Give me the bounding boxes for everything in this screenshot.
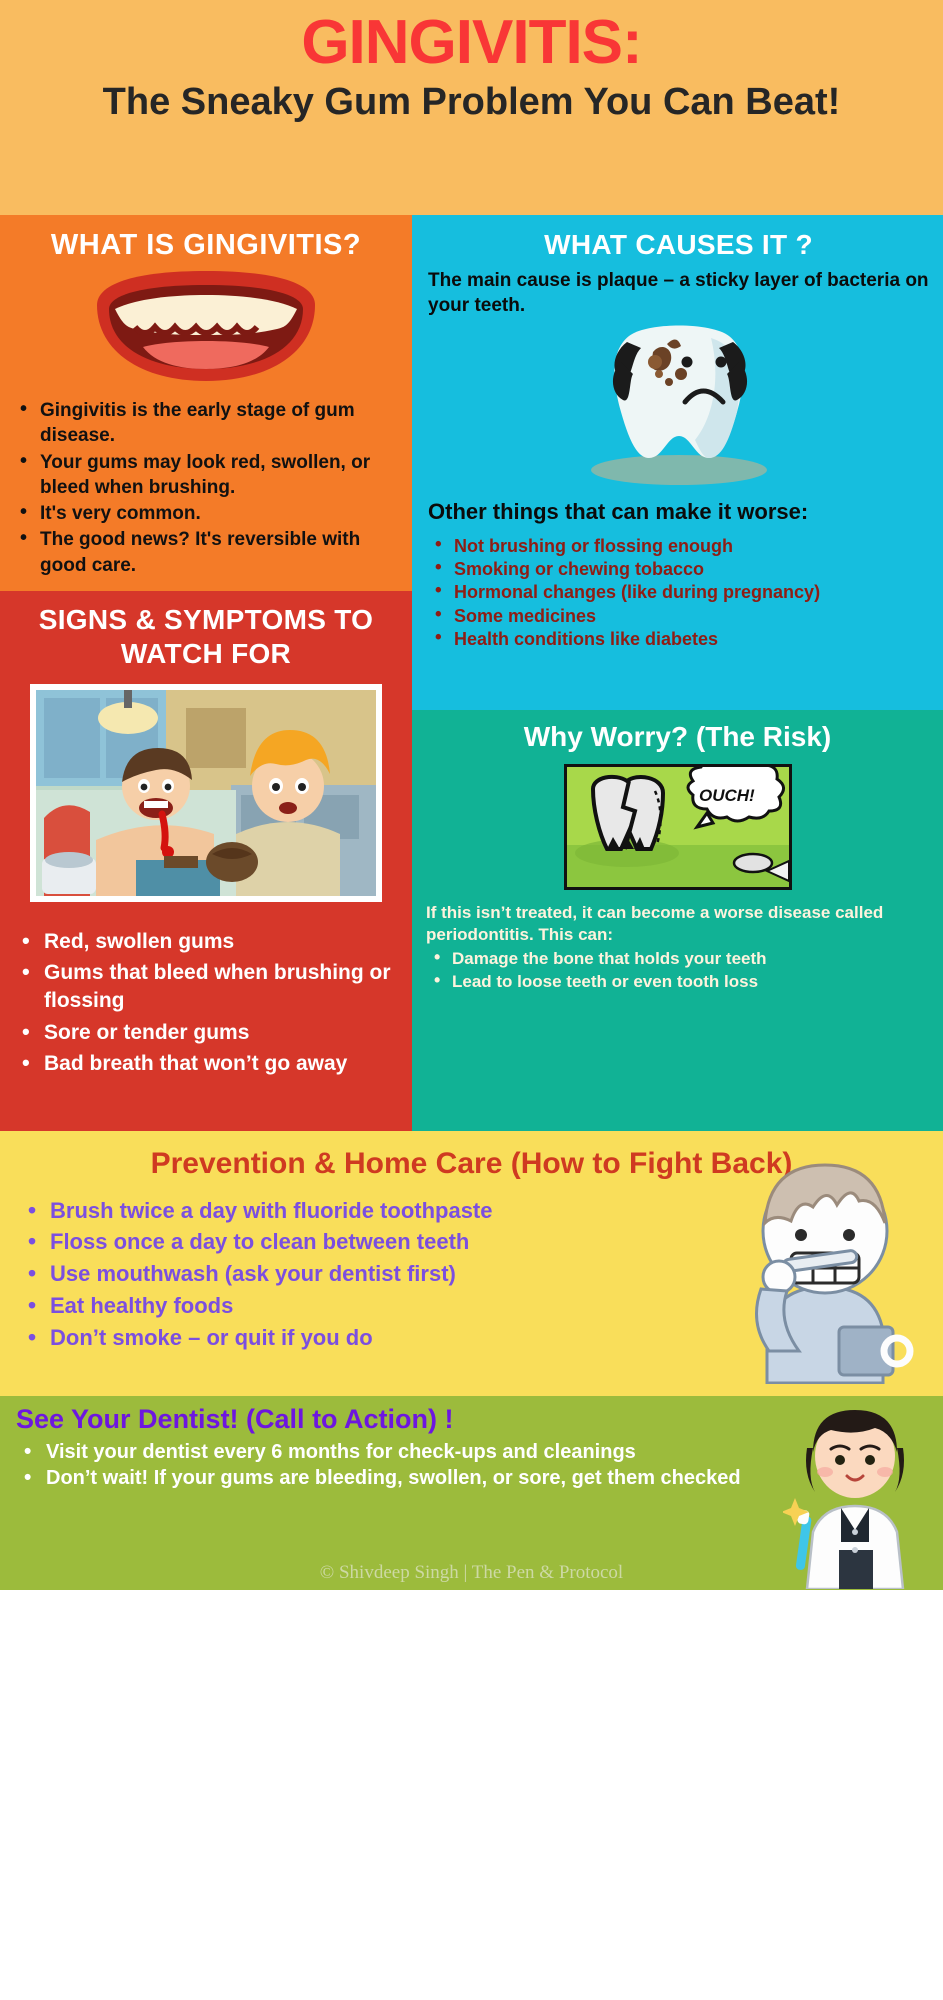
header-banner: GINGIVITIS: The Sneaky Gum Problem You C… bbox=[0, 0, 943, 215]
list-item: Red, swollen gums bbox=[14, 928, 398, 956]
why-worry-body-text: If this isn’t treated, it can become a w… bbox=[426, 903, 883, 944]
what-is-gingivitis-panel: WHAT IS GINGIVITIS? Gingivitis is the ea… bbox=[0, 215, 412, 591]
why-worry-body-text-2: This can: bbox=[538, 925, 613, 944]
list-item: Floss once a day to clean between teeth bbox=[18, 1226, 708, 1258]
page-title: GINGIVITIS: bbox=[301, 8, 641, 77]
what-is-gingivitis-list: Gingivitis is the early stage of gum dis… bbox=[14, 398, 398, 578]
list-item: Health conditions like diabetes bbox=[428, 628, 929, 651]
page-subtitle: The Sneaky Gum Problem You Can Beat! bbox=[103, 79, 841, 125]
list-item: Brush twice a day with fluoride toothpas… bbox=[18, 1195, 708, 1227]
list-item: Gums that bleed when brushing or flossin… bbox=[14, 959, 398, 1015]
list-item: It's very common. bbox=[14, 501, 398, 526]
list-item: Lead to loose teeth or even tooth loss bbox=[426, 971, 929, 993]
right-column: WHAT CAUSES IT ? The main cause is plaqu… bbox=[412, 215, 943, 1131]
child-brushing-teeth-illustration bbox=[731, 1149, 921, 1384]
left-column: WHAT IS GINGIVITIS? Gingivitis is the ea… bbox=[0, 215, 412, 1131]
list-item: Use mouthwash (ask your dentist first) bbox=[18, 1258, 708, 1290]
dental-clinic-cartoon-photo bbox=[30, 684, 382, 902]
list-item: Visit your dentist every 6 months for ch… bbox=[16, 1439, 871, 1465]
list-item: Some medicines bbox=[428, 605, 929, 628]
call-to-action-list: Visit your dentist every 6 months for ch… bbox=[16, 1439, 871, 1492]
list-item: Don’t wait! If your gums are bleeding, s… bbox=[16, 1465, 871, 1491]
list-item: Your gums may look red, swollen, or blee… bbox=[14, 450, 398, 501]
other-causes-subheading: Other things that can make it worse: bbox=[428, 498, 929, 526]
prevention-list: Brush twice a day with fluoride toothpas… bbox=[18, 1195, 708, 1354]
what-causes-it-panel: WHAT CAUSES IT ? The main cause is plaqu… bbox=[412, 215, 943, 710]
what-causes-it-heading: WHAT CAUSES IT ? bbox=[428, 229, 929, 261]
list-item: Eat healthy foods bbox=[18, 1290, 708, 1322]
signs-symptoms-list: Red, swollen gums Gums that bleed when b… bbox=[14, 928, 398, 1078]
ouch-text: OUCH! bbox=[699, 786, 755, 805]
what-causes-it-lead: The main cause is plaque – a sticky laye… bbox=[428, 269, 929, 318]
why-worry-panel: Why Worry? (The Risk) OUCH! bbox=[412, 710, 943, 1131]
list-item: The good news? It's reversible with good… bbox=[14, 527, 398, 578]
other-causes-list: Not brushing or flossing enough Smoking … bbox=[428, 535, 929, 652]
signs-symptoms-panel: SIGNS & SYMPTOMS TO WATCH FOR bbox=[0, 591, 412, 1131]
list-item: Smoking or chewing tobacco bbox=[428, 558, 929, 581]
signs-symptoms-heading: SIGNS & SYMPTOMS TO WATCH FOR bbox=[14, 603, 398, 670]
credit-text: © Shivdeep Singh | The Pen & Protocol bbox=[0, 1562, 943, 1584]
middle-grid: WHAT IS GINGIVITIS? Gingivitis is the ea… bbox=[0, 215, 943, 1131]
prevention-panel: Prevention & Home Care (How to Fight Bac… bbox=[0, 1131, 943, 1396]
what-is-gingivitis-heading: WHAT IS GINGIVITIS? bbox=[14, 229, 398, 262]
list-item: Not brushing or flossing enough bbox=[428, 535, 929, 558]
list-item: Hormonal changes (like during pregnancy) bbox=[428, 581, 929, 604]
why-worry-body: If this isn’t treated, it can become a w… bbox=[426, 902, 929, 947]
why-worry-heading: Why Worry? (The Risk) bbox=[426, 720, 929, 754]
list-item: Damage the bone that holds your teeth bbox=[426, 948, 929, 970]
infographic-page: GINGIVITIS: The Sneaky Gum Problem You C… bbox=[0, 0, 943, 2000]
list-item: Gingivitis is the early stage of gum dis… bbox=[14, 398, 398, 449]
why-worry-list: Damage the bone that holds your teeth Le… bbox=[426, 948, 929, 993]
sad-tooth-with-plaque-illustration bbox=[428, 318, 929, 486]
prevention-heading: Prevention & Home Care (How to Fight Bac… bbox=[142, 1145, 802, 1183]
list-item: Sore or tender gums bbox=[14, 1019, 398, 1047]
call-to-action-panel: See Your Dentist! (Call to Action) ! Vis… bbox=[0, 1396, 943, 1590]
smiling-mouth-illustration bbox=[14, 266, 398, 386]
list-item: Don’t smoke – or quit if you do bbox=[18, 1322, 708, 1354]
cracked-tooth-ouch-comic: OUCH! bbox=[564, 764, 792, 890]
list-item: Bad breath that won’t go away bbox=[14, 1050, 398, 1078]
